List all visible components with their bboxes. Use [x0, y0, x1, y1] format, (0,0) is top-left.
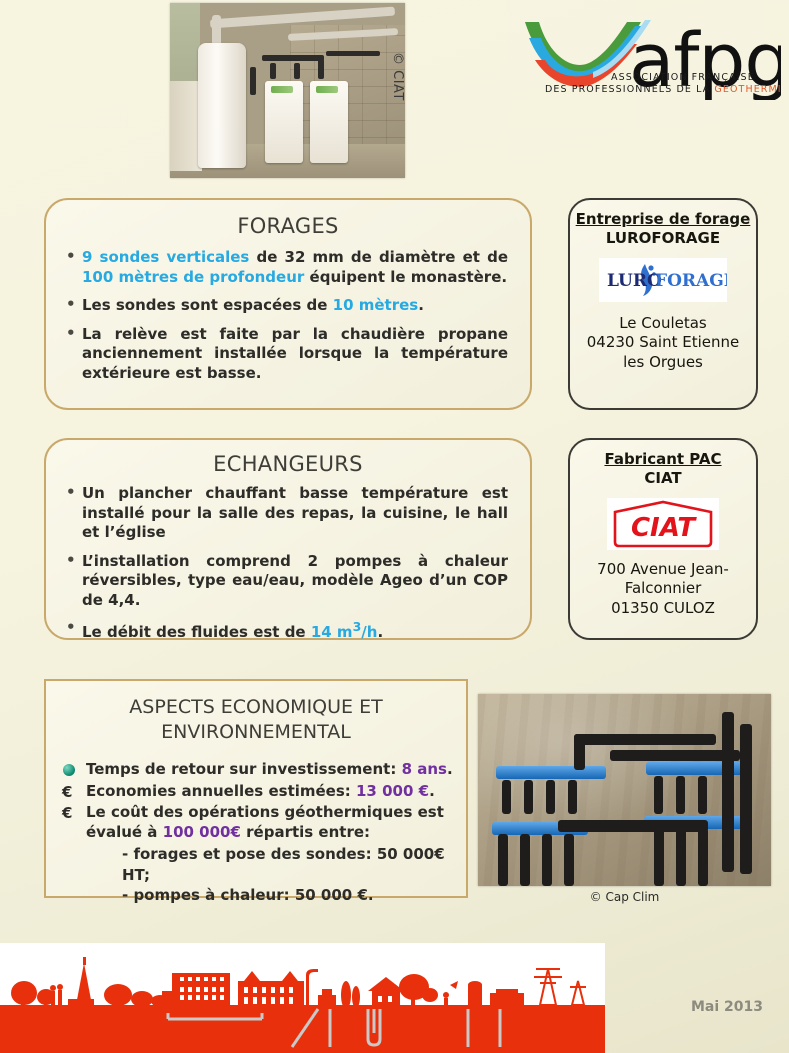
address-line: 700 Avenue Jean-: [570, 560, 756, 580]
forage-company-name: LUROFORAGE: [606, 229, 720, 247]
pipe-horizontal-1: [574, 734, 716, 745]
forage-company-heading-underlined: Entreprise de forage: [576, 210, 751, 228]
list-item: Les sondes sont espacées de 10 mètres.: [60, 296, 508, 316]
pac-manufacturer-heading-underlined: Fabricant PAC: [604, 450, 721, 468]
euro-bullet-icon: €: [62, 804, 72, 824]
address-line: les Orgues: [570, 353, 756, 373]
photo-valve-bar-1: [262, 55, 324, 61]
drop-pipe-13: [676, 828, 686, 886]
list-item: € Economies annuelles estimées: 13 000 €…: [60, 782, 454, 802]
drop-pipe-4: [568, 780, 577, 814]
list-item: La relève est faite par la chaudière pro…: [60, 325, 508, 384]
luroforage-logo-text-blue: FORAGE: [655, 271, 727, 291]
drop-pipe-5: [654, 776, 663, 814]
address-line: 01350 CULOZ: [570, 599, 756, 619]
ciat-logo-text: CIAT: [631, 513, 697, 543]
sub-item: - forages et pose des sondes: 50 000€ HT…: [122, 844, 466, 885]
euro-bullet-icon: €: [62, 783, 72, 803]
afpg-tagline-line1: ASSOCIATION FRANÇAISE: [611, 72, 755, 83]
pac-manufacturer-address: 700 Avenue Jean- Falconnier 01350 CULOZ: [570, 560, 756, 619]
pipe-vertical-right: [722, 712, 734, 872]
bottom-photo-credit: © Cap Clim: [478, 890, 771, 904]
photo-valve-4: [250, 67, 256, 95]
photo-valve-bar-2: [326, 51, 380, 56]
drop-pipe-3: [546, 780, 555, 814]
luroforage-logo-text-dark: LURO: [607, 271, 662, 291]
afpg-tagline-line2: DES PROFESSIONNELS DE LA GEOTHERMIE: [545, 84, 781, 95]
forages-title: FORAGES: [46, 214, 530, 238]
pipe-vertical-1: [574, 734, 585, 770]
drop-pipe-6: [676, 776, 685, 814]
drop-pipe-8: [498, 834, 508, 886]
economics-sub-items: - forages et pose des sondes: 50 000€ HT…: [46, 844, 466, 905]
pac-manufacturer-heading: Fabricant PAC CIAT: [570, 450, 756, 488]
drop-pipe-10: [542, 834, 552, 886]
drop-pipe-11: [564, 834, 574, 886]
echangeurs-title: ECHANGEURS: [46, 452, 530, 476]
manifold-1: [496, 766, 606, 779]
address-line: 04230 Saint Etienne: [570, 333, 756, 353]
photo-heat-pump-left: [265, 81, 303, 163]
forage-company-address: Le Couletas 04230 Saint Etienne les Orgu…: [570, 314, 756, 373]
list-item: Le débit des fluides est de 14 m3/h.: [60, 619, 508, 643]
top-photo-credit: © CIAT: [390, 52, 405, 101]
photo-heat-pump-right: [310, 81, 348, 163]
forage-company-card: Entreprise de forage LUROFORAGE LURO FOR…: [568, 198, 758, 410]
poster-page: © CIAT afpg ASSOCIATION FRANÇAISE DES PR…: [0, 0, 789, 1053]
address-line: Falconnier: [570, 579, 756, 599]
economics-title: ASPECTS ECONOMIQUE ET ENVIRONNEMENTAL: [60, 695, 452, 744]
drop-pipe-14: [698, 828, 708, 886]
economics-bullet-list: Temps de retour sur investissement: 8 an…: [60, 760, 454, 842]
list-item: € Le coût des opérations géothermiques e…: [60, 803, 454, 842]
drop-pipe-9: [520, 834, 530, 886]
pac-manufacturer-name: CIAT: [644, 469, 681, 487]
echangeurs-panel: ECHANGEURS Un plancher chauffant basse t…: [44, 438, 532, 640]
afpg-logo: afpg ASSOCIATION FRANÇAISE DES PROFESSIO…: [519, 8, 781, 100]
photo-valve-2: [294, 63, 300, 79]
green-sphere-bullet-icon: [63, 764, 75, 776]
pac-manufacturer-card: Fabricant PAC CIAT CIAT 700 Avenue Jean-…: [568, 438, 758, 640]
pipe-vertical-right-2: [740, 724, 752, 874]
geothermal-skyline-banner: [0, 943, 605, 1053]
economics-panel: ASPECTS ECONOMIQUE ET ENVIRONNEMENTAL Te…: [44, 679, 468, 898]
economics-title-line1: ASPECTS ECONOMIQUE ET: [129, 696, 382, 718]
document-date: Mai 2013: [691, 999, 763, 1015]
list-item: 9 sondes verticales de 32 mm de diamètre…: [60, 248, 508, 287]
pipe-horizontal-2: [610, 750, 740, 761]
drop-pipe-2: [524, 780, 533, 814]
forages-panel: FORAGES 9 sondes verticales de 32 mm de …: [44, 198, 532, 410]
drop-pipe-7: [698, 776, 707, 814]
echangeurs-bullet-list: Un plancher chauffant basse température …: [60, 484, 508, 643]
economics-title-line2: ENVIRONNEMENTAL: [161, 721, 351, 743]
sub-item: - pompes à chaleur: 50 000 €.: [122, 885, 466, 905]
list-item: Temps de retour sur investissement: 8 an…: [60, 760, 454, 780]
drop-pipe-12: [654, 828, 664, 886]
manifold-photo: [478, 694, 771, 886]
forage-company-heading: Entreprise de forage LUROFORAGE: [570, 210, 756, 248]
photo-buffer-tank: [198, 43, 246, 168]
address-line: Le Couletas: [570, 314, 756, 334]
photo-valve-3: [318, 59, 324, 79]
boiler-room-photo: [170, 3, 405, 178]
forages-bullet-list: 9 sondes verticales de 32 mm de diamètre…: [60, 248, 508, 383]
photo-valve-1: [270, 63, 276, 79]
drop-pipe-1: [502, 780, 511, 814]
ciat-logo: CIAT: [607, 498, 719, 550]
luroforage-logo: LURO FORAGE: [599, 258, 727, 302]
list-item: Un plancher chauffant basse température …: [60, 484, 508, 543]
list-item: L’installation comprend 2 pompes à chale…: [60, 552, 508, 611]
